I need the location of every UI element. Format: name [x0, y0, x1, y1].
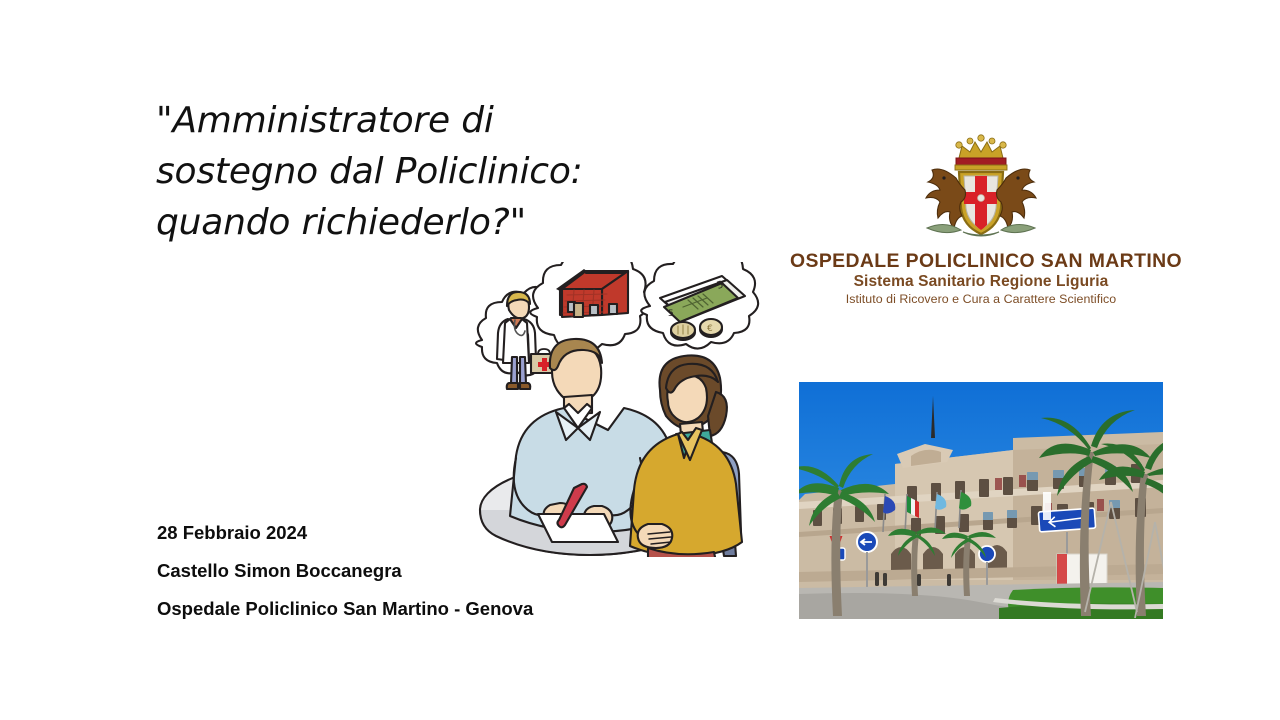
- event-date: 28 Febbraio 2024: [157, 514, 717, 552]
- thought-bubble-money: 5 5 €: [641, 262, 758, 349]
- svg-text:5: 5: [668, 309, 674, 319]
- logo-subtitle-regional-system: Sistema Sanitario Regione Liguria: [790, 272, 1172, 291]
- title-line-2: sostegno dal Policlinico:: [156, 146, 676, 197]
- event-location: Ospedale Policlinico San Martino - Genov…: [157, 590, 717, 628]
- coat-of-arms-icon: [901, 128, 1061, 246]
- title-line-3: quando richiederlo?": [156, 197, 676, 248]
- hospital-building-photo: [799, 382, 1163, 619]
- event-venue: Castello Simon Boccanegra: [157, 552, 717, 590]
- title-line-1: "Amministratore di: [156, 95, 676, 146]
- logo-organization-name: OSPEDALE POLICLINICO SAN MARTINO: [790, 250, 1172, 272]
- hospital-logo: OSPEDALE POLICLINICO SAN MARTINO Sistema…: [790, 128, 1172, 308]
- consultation-illustration: 5 5 €: [452, 262, 770, 557]
- event-details: 28 Febbraio 2024 Castello Simon Boccaneg…: [157, 514, 717, 628]
- logo-subtitle-institute: Istituto di Ricovero e Cura a Carattere …: [790, 291, 1172, 308]
- presentation-slide: "Amministratore di sostegno dal Policlin…: [0, 0, 1280, 720]
- svg-text:€: €: [707, 324, 713, 334]
- page-title: "Amministratore di sostegno dal Policlin…: [156, 95, 676, 248]
